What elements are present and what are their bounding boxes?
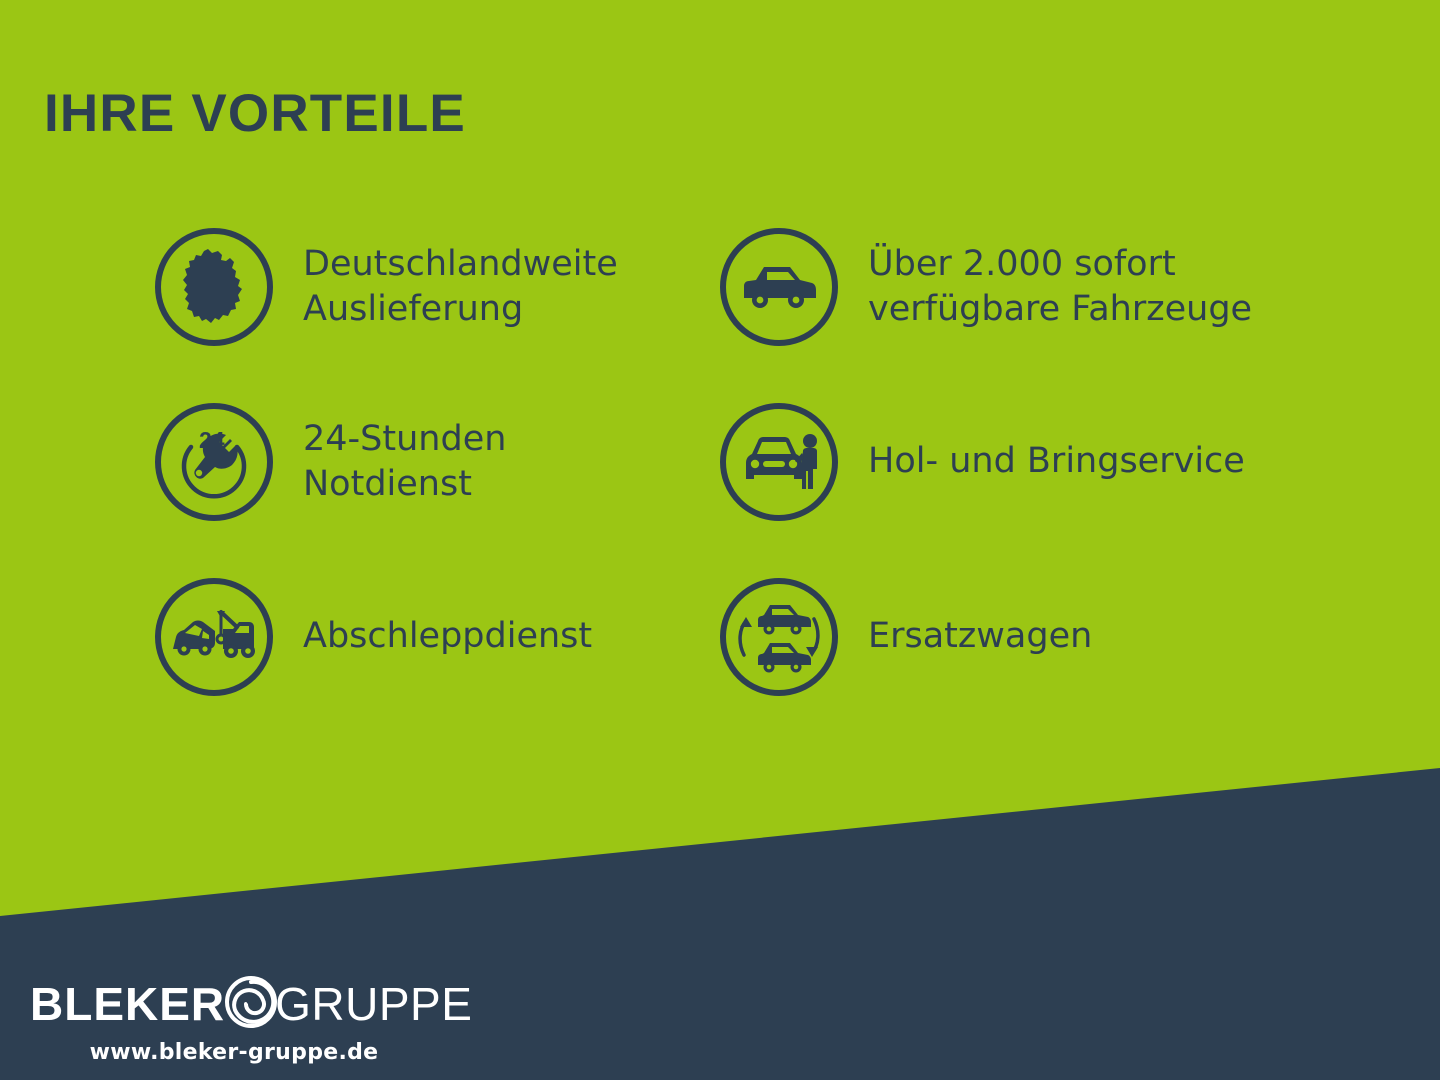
benefit-item-verfuegbare-fahrzeuge: Über 2.000 sofort verfügbare Fahrzeuge [720, 222, 1285, 352]
benefits-grid: Deutschlandweite Auslieferung [155, 222, 1365, 747]
benefits-row: Deutschlandweite Auslieferung [155, 222, 1365, 397]
benefit-label-line: verfügbare Fahrzeuge [868, 287, 1252, 333]
logo-wordmark-row: BLEKER GRUPPE [30, 975, 410, 1033]
logo-name-light: GRUPPE [275, 981, 472, 1027]
benefit-label-line: Über 2.000 sofort [868, 242, 1252, 288]
benefit-item-hol-und-bringservice: Hol- und Bringservice [720, 397, 1285, 527]
car-side-icon [720, 228, 838, 346]
logo-name-bold: BLEKER [30, 981, 225, 1027]
24-hour-wrench-icon: 24 [155, 403, 273, 521]
spiral-circle-logo-mark [223, 974, 279, 1034]
benefit-label-line: 24-Stunden [303, 417, 506, 463]
benefit-label: 24-Stunden Notdienst [303, 417, 506, 508]
benefit-label-line: Abschleppdienst [303, 614, 592, 660]
benefit-item-ersatzwagen: Ersatzwagen [720, 572, 1285, 702]
benefit-label: Deutschlandweite Auslieferung [303, 242, 618, 333]
benefit-label: Hol- und Bringservice [868, 439, 1245, 485]
car-with-person-icon [720, 403, 838, 521]
benefit-label: Ersatzwagen [868, 614, 1092, 660]
page-title: IHRE VORTEILE [44, 86, 466, 142]
company-logo[interactable]: BLEKER GRUPPE www.bleker-gruppe.de [30, 975, 410, 1065]
benefit-item-abschleppdienst: Abschleppdienst [155, 572, 720, 702]
logo-website-url[interactable]: www.bleker-gruppe.de [30, 1040, 410, 1065]
slide-canvas: IHRE VORTEILE Deutschlandweite Ausliefer… [0, 0, 1440, 1080]
benefit-label: Über 2.000 sofort verfügbare Fahrzeuge [868, 242, 1252, 333]
benefit-item-deutschlandweite-auslieferung: Deutschlandweite Auslieferung [155, 222, 720, 352]
benefit-label-line: Ersatzwagen [868, 614, 1092, 660]
benefits-row: 24 24-Stunden Notdienst [155, 397, 1365, 572]
benefit-label-line: Hol- und Bringservice [868, 439, 1245, 485]
germany-map-icon [155, 228, 273, 346]
benefit-label-line: Auslieferung [303, 287, 618, 333]
tow-truck-icon [155, 578, 273, 696]
benefit-label-line: Deutschlandweite [303, 242, 618, 288]
benefit-label-line: Notdienst [303, 462, 506, 508]
two-cars-exchange-icon [720, 578, 838, 696]
benefits-row: Abschleppdienst [155, 572, 1365, 747]
benefit-label: Abschleppdienst [303, 614, 592, 660]
benefit-item-24-stunden-notdienst: 24 24-Stunden Notdienst [155, 397, 720, 527]
